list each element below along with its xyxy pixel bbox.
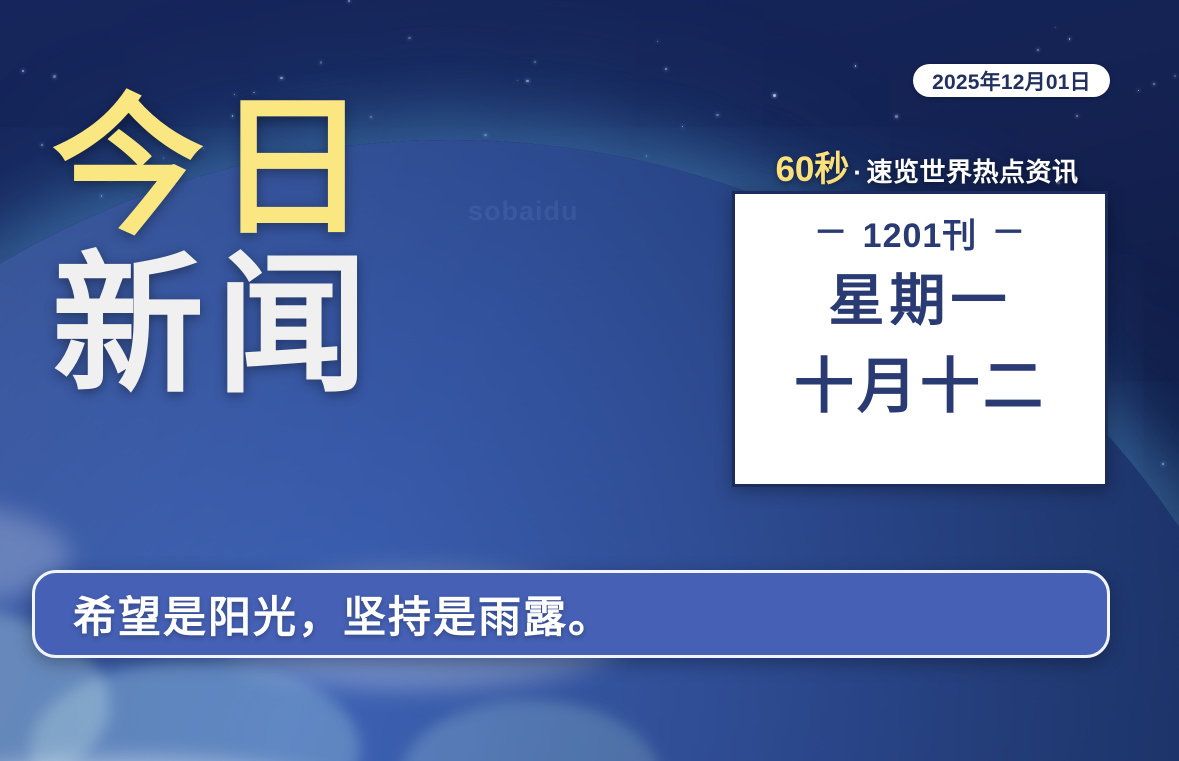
star bbox=[1055, 27, 1056, 28]
brand-title-line2: 新闻 bbox=[52, 254, 472, 398]
star bbox=[408, 37, 410, 39]
star bbox=[682, 126, 683, 127]
issue-number: 1201刊 bbox=[863, 217, 978, 255]
star bbox=[773, 94, 776, 97]
date-badge: 2025年12月01日 bbox=[913, 64, 1110, 97]
star bbox=[895, 115, 898, 118]
subtitle-tagline: 速览世界热点资讯 bbox=[867, 157, 1079, 187]
star bbox=[855, 65, 857, 67]
star bbox=[534, 61, 536, 63]
lunar-date-label: 十月十二 bbox=[794, 357, 1046, 417]
star bbox=[22, 70, 24, 72]
star bbox=[517, 80, 518, 81]
star bbox=[646, 155, 648, 157]
weekday-label: 星期一 bbox=[829, 273, 1012, 329]
star bbox=[1174, 75, 1176, 77]
subtitle-seconds: 60秒 bbox=[775, 150, 849, 189]
star bbox=[320, 61, 322, 63]
star bbox=[1153, 83, 1155, 85]
star bbox=[657, 41, 658, 42]
news-poster: sobaidu 2025年12月01日 今日 新闻 60秒·速览世界热点资讯 －… bbox=[0, 0, 1179, 761]
star bbox=[348, 0, 350, 2]
subtitle-separator: · bbox=[849, 157, 866, 187]
issue-dash-left: － bbox=[800, 214, 863, 252]
brand-title-line1: 今日 bbox=[52, 96, 472, 240]
star bbox=[41, 144, 43, 146]
star bbox=[716, 114, 719, 117]
star bbox=[484, 134, 487, 137]
star bbox=[53, 75, 56, 78]
quote-text: 希望是阳光，坚持是雨露。 bbox=[35, 583, 613, 645]
star bbox=[1069, 38, 1071, 40]
brand-title: 今日 新闻 bbox=[52, 96, 472, 399]
site-watermark: sobaidu bbox=[468, 196, 579, 227]
issue-dash-right: － bbox=[977, 214, 1040, 252]
date-badge-label: 2025年12月01日 bbox=[932, 66, 1091, 96]
subtitle: 60秒·速览世界热点资讯 bbox=[744, 141, 1110, 192]
star bbox=[280, 77, 283, 80]
issue-card: －1201刊－ 星期一 十月十二 bbox=[732, 191, 1108, 487]
star bbox=[1138, 90, 1139, 91]
star bbox=[526, 80, 529, 83]
star bbox=[1037, 49, 1039, 51]
star bbox=[665, 68, 668, 71]
star bbox=[1076, 115, 1078, 117]
star bbox=[1162, 463, 1164, 465]
quote-banner: 希望是阳光，坚持是雨露。 bbox=[32, 570, 1110, 658]
issue-number-row: －1201刊－ bbox=[800, 208, 1041, 257]
